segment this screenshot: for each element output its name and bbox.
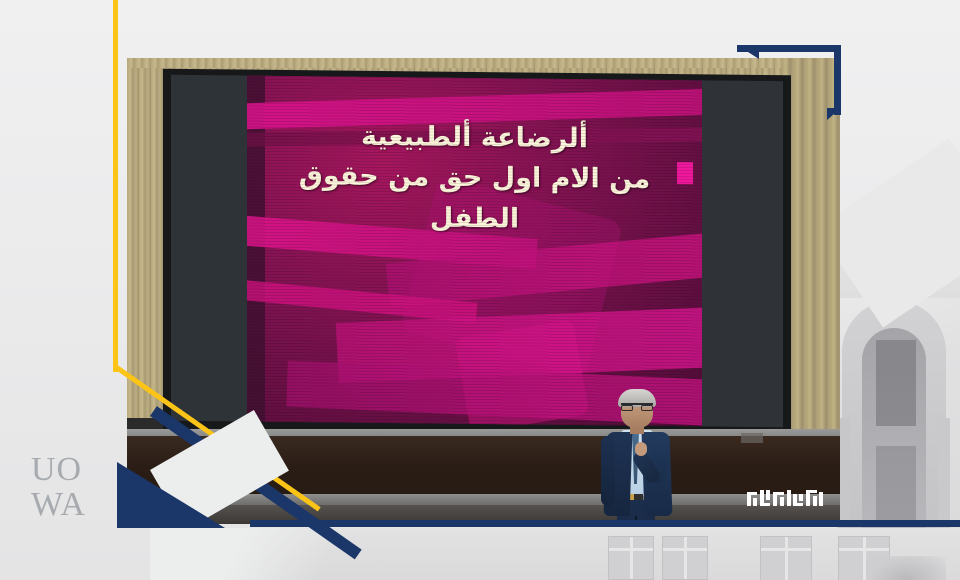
gold-accent-vertical: [113, 0, 118, 372]
presentation-slide: ألرضاعة ألطبيعية من الام اول حق من حقوق …: [247, 76, 702, 427]
navy-corner-right-bar: [834, 45, 841, 115]
wall-top-trim: [127, 58, 840, 68]
navy-bar-bottom: [250, 520, 960, 527]
uowa-logo-line-2: WA: [31, 490, 103, 521]
facade-window: [662, 536, 708, 580]
kufic-wordmark-icon: [747, 488, 823, 510]
facade-window: [760, 536, 812, 580]
led-screen: ألرضاعة ألطبيعية من الام اول حق من حقوق …: [171, 75, 783, 427]
facade-fade-overlay: [150, 528, 380, 580]
speaker-arm-left: [601, 436, 615, 506]
facade-shrub: [866, 556, 946, 580]
navy-corner-wedge-lower: [827, 108, 841, 120]
navy-triangle-bottom-left: [117, 462, 225, 528]
stage-lamp: [741, 433, 763, 443]
speaker-figure: [599, 390, 675, 524]
facade-window: [608, 536, 654, 580]
building-window-upper: [876, 340, 916, 426]
uowa-logo: UO WA: [31, 455, 103, 527]
kufic-wordmark: [746, 486, 824, 512]
speaker-hand: [635, 442, 647, 456]
building-window-lower: [876, 446, 916, 520]
navy-corner-top-bar: [737, 45, 841, 52]
eyeglasses-icon: [621, 403, 653, 411]
led-scanline-overlay: [247, 76, 702, 427]
screen-dark-area: [702, 80, 783, 427]
building-column-right: [938, 418, 950, 530]
poster-canvas: ألرضاعة ألطبيعية من الام اول حق من حقوق …: [0, 0, 960, 580]
uowa-logo-line-1: UO: [31, 455, 103, 486]
